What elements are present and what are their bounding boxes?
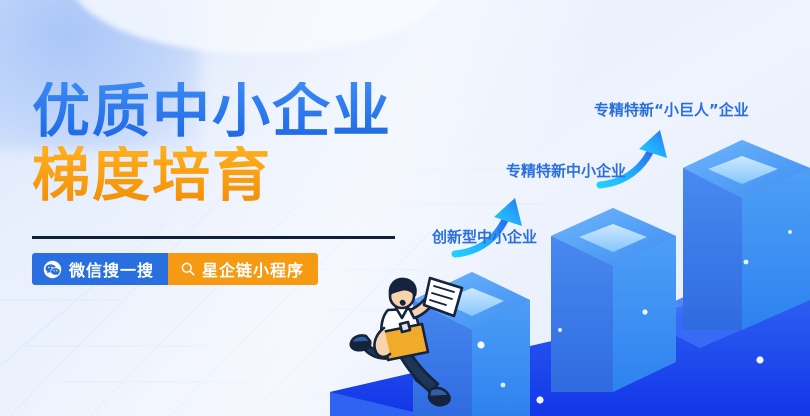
badge-wechat-label: 微信搜一搜 xyxy=(69,257,154,281)
badge-wechat-section[interactable]: 微信搜一搜 xyxy=(32,253,168,285)
running-person-illustration xyxy=(344,270,472,410)
badge-miniprogram-label: 星企链小程序 xyxy=(202,257,304,281)
step-label-1: 创新型中小企业 xyxy=(432,226,537,247)
promo-banner: 优质中小企业 梯度培育 微信搜一搜 星企链小程序 创新型中小企业 xyxy=(0,0,810,416)
wechat-icon xyxy=(43,260,62,279)
headline-group: 优质中小企业 梯度培育 xyxy=(32,82,462,204)
headline-divider xyxy=(32,236,395,239)
wechat-search-badge[interactable]: 微信搜一搜 星企链小程序 xyxy=(32,253,318,285)
step-label-2: 专精特新中小企业 xyxy=(506,160,626,181)
search-icon xyxy=(180,261,196,277)
headline-line-2: 梯度培育 xyxy=(32,146,462,204)
badge-miniprogram-section[interactable]: 星企链小程序 xyxy=(168,253,318,285)
headline-line-1: 优质中小企业 xyxy=(32,82,462,140)
step-label-3: 专精特新“小巨人”企业 xyxy=(594,99,749,120)
